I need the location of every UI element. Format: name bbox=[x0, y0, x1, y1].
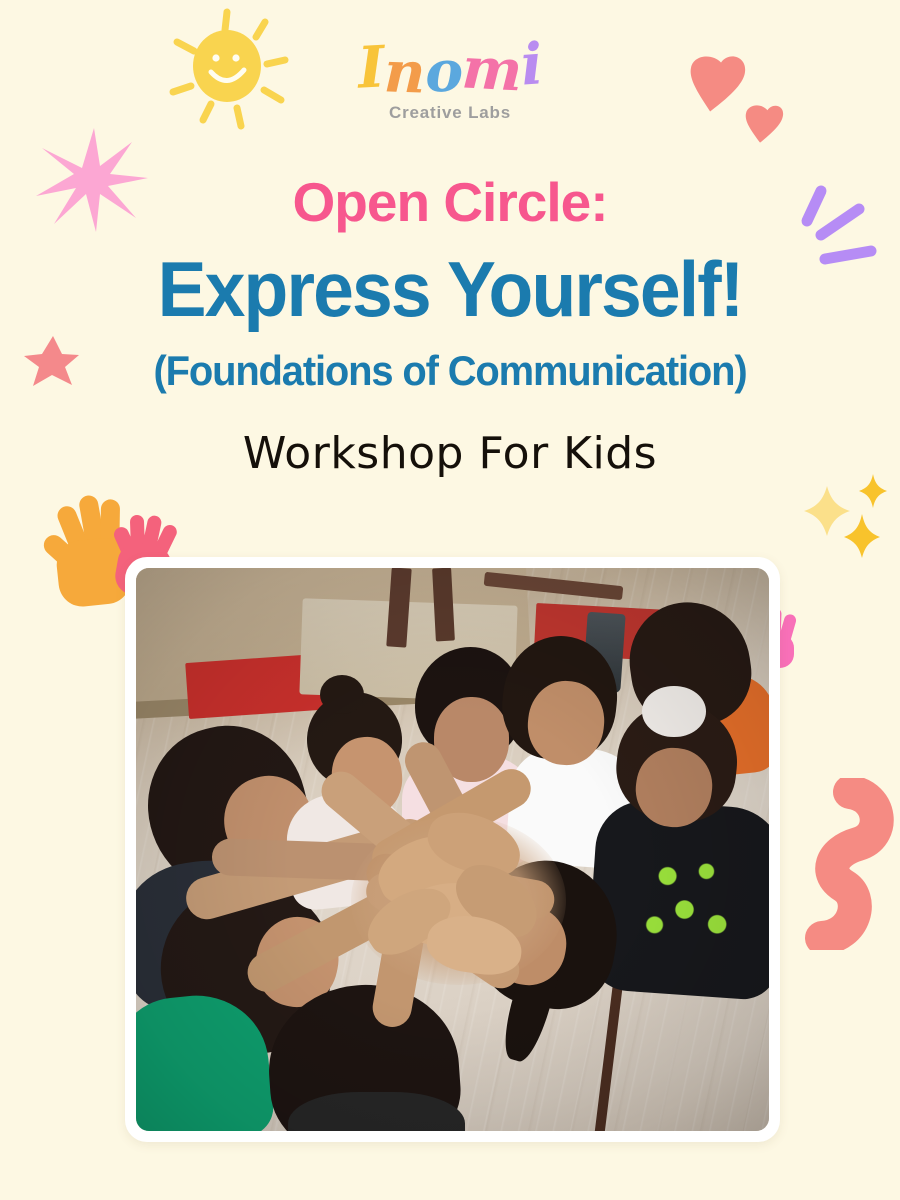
kicker-heading: Open Circle: bbox=[0, 175, 900, 230]
photo-frame bbox=[125, 557, 780, 1142]
brand-tagline: Creative Labs bbox=[0, 103, 900, 123]
brand-letter-3: o bbox=[424, 42, 463, 100]
sparkles-icon bbox=[800, 468, 896, 560]
brand-wordmark: Inomi bbox=[0, 42, 900, 99]
squiggle-icon bbox=[786, 778, 894, 950]
audience-subtitle: Workshop For Kids bbox=[0, 430, 900, 478]
brand-logo: Inomi Creative Labs bbox=[0, 42, 900, 123]
brand-letter-1: I bbox=[357, 38, 386, 96]
brand-letter-2: n bbox=[383, 43, 425, 101]
poster-canvas: Inomi Creative Labs Open Circle: Express… bbox=[0, 0, 900, 1200]
photo-vignette bbox=[136, 568, 769, 1131]
page-title: Express Yourself! bbox=[27, 250, 873, 328]
brand-letter-5: i bbox=[519, 35, 544, 93]
workshop-photo bbox=[136, 568, 769, 1131]
subtitle-parenthetical: (Foundations of Communication) bbox=[23, 350, 878, 392]
brand-letter-4: m bbox=[460, 39, 522, 99]
